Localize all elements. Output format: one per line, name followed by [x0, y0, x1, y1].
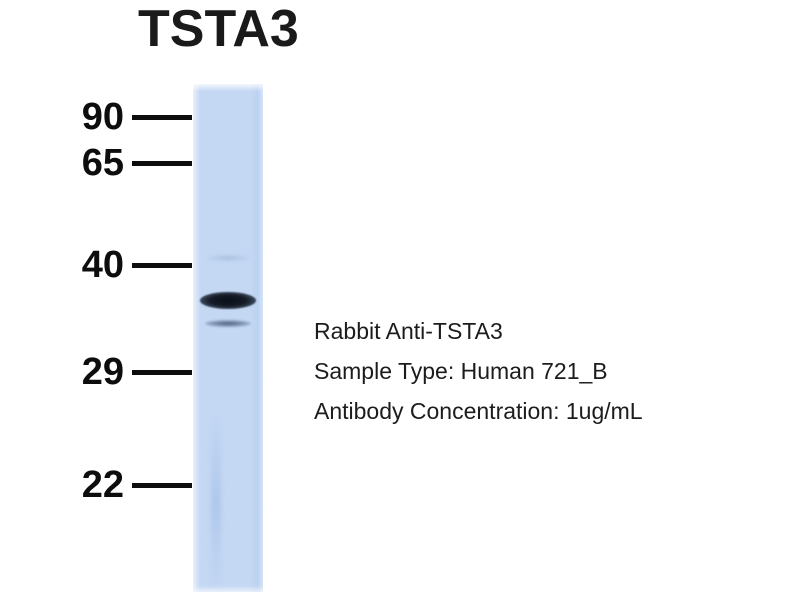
- marker-65: 65: [60, 143, 194, 183]
- annotation-sample-type: Sample Type: Human 721_B: [314, 351, 784, 391]
- page-title: TSTA3: [138, 0, 299, 58]
- protein-band-secondary: [205, 320, 251, 327]
- gel-lane-streak: [211, 414, 221, 592]
- annotation-block: Rabbit Anti-TSTA3 Sample Type: Human 721…: [314, 311, 784, 431]
- marker-tick-29: [132, 370, 192, 375]
- annotation-antibody-concentration: Antibody Concentration: 1ug/mL: [314, 391, 784, 431]
- marker-label-40: 40: [60, 245, 124, 285]
- marker-tick-90: [132, 115, 192, 120]
- marker-label-22: 22: [60, 465, 124, 505]
- marker-40: 40: [60, 245, 194, 285]
- marker-label-65: 65: [60, 143, 124, 183]
- protein-band-faint-high: [206, 255, 250, 261]
- protein-band-primary: [200, 292, 256, 309]
- marker-tick-22: [132, 483, 192, 488]
- western-blot-figure: TSTA3 90 65 40 29 22: [0, 0, 800, 600]
- marker-22: 22: [60, 465, 194, 505]
- marker-tick-40: [132, 263, 192, 268]
- marker-label-29: 29: [60, 352, 124, 392]
- gel-lane-bottom-edge: [193, 586, 263, 592]
- marker-90: 90: [60, 97, 194, 137]
- marker-label-90: 90: [60, 97, 124, 137]
- marker-29: 29: [60, 352, 194, 392]
- gel-lane-top-edge: [193, 84, 263, 91]
- gel-lane: [193, 84, 263, 592]
- marker-tick-65: [132, 161, 192, 166]
- annotation-antibody: Rabbit Anti-TSTA3: [314, 311, 784, 351]
